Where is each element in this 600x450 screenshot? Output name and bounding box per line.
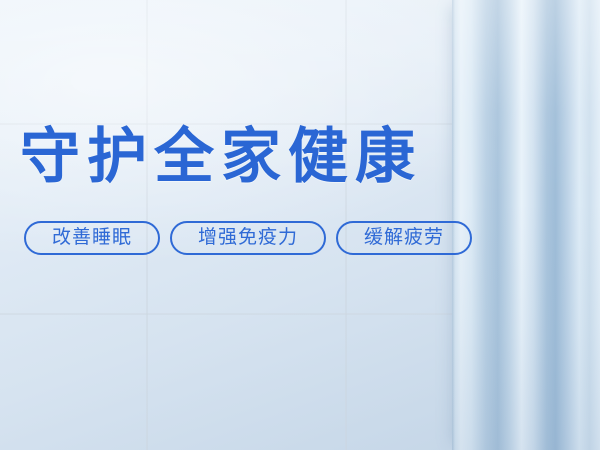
status-badge: 增强免疫力: [170, 221, 326, 255]
column-shading-overlay: [452, 0, 600, 450]
status-badge: 缓解疲劳: [336, 221, 472, 255]
feature-badge-row: 改善睡眠 增强免疫力 缓解疲劳: [24, 221, 472, 255]
glossy-column: [452, 0, 600, 450]
status-badge: 改善睡眠: [24, 221, 160, 255]
page-title: 守护全家健康: [20, 126, 422, 188]
promo-banner: 守护全家健康 改善睡眠 增强免疫力 缓解疲劳: [0, 0, 600, 450]
